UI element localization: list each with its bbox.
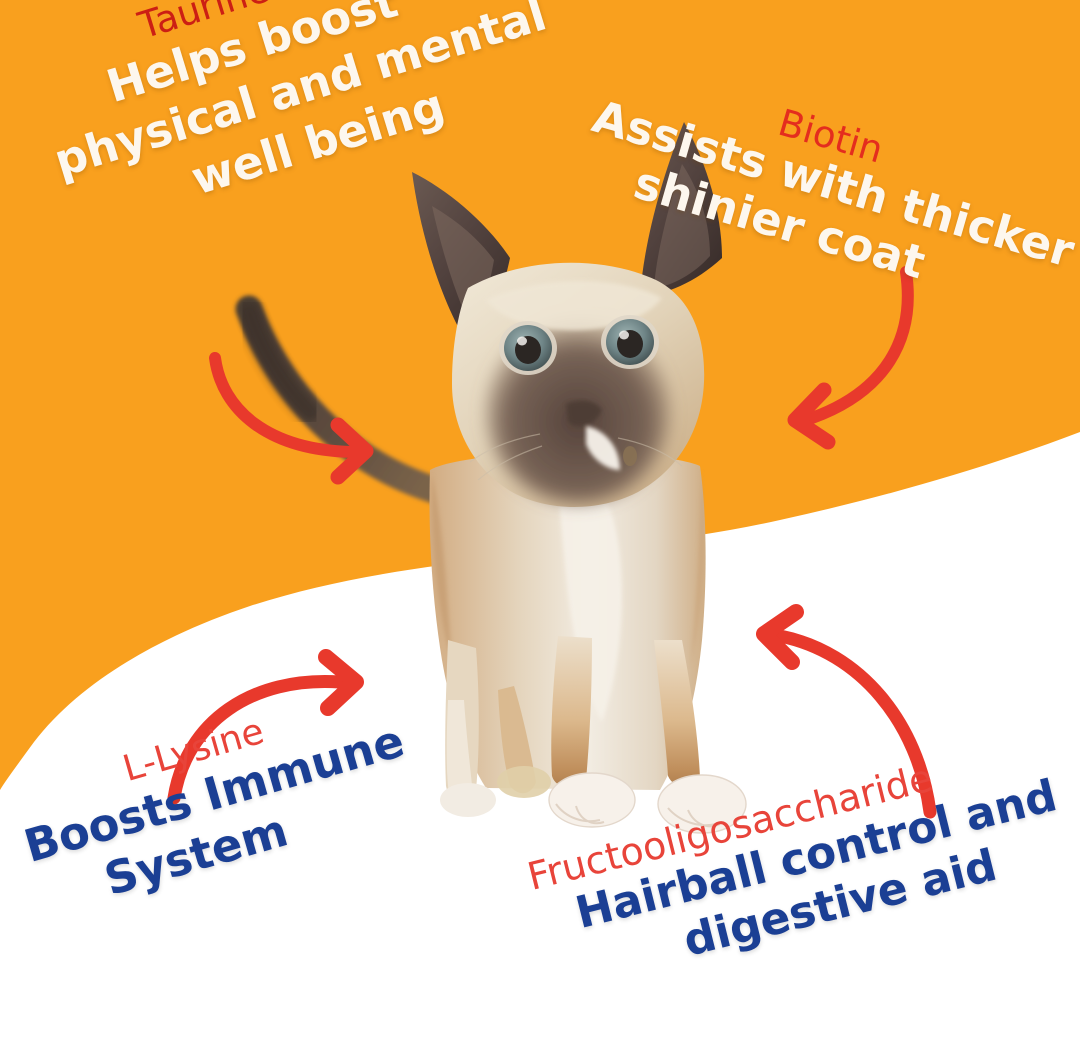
infographic-canvas: Taurine Helps boost physical and mental … (0, 0, 1080, 1042)
arrow-biotin-icon (795, 272, 908, 442)
arrow-taurine-icon (215, 358, 366, 477)
